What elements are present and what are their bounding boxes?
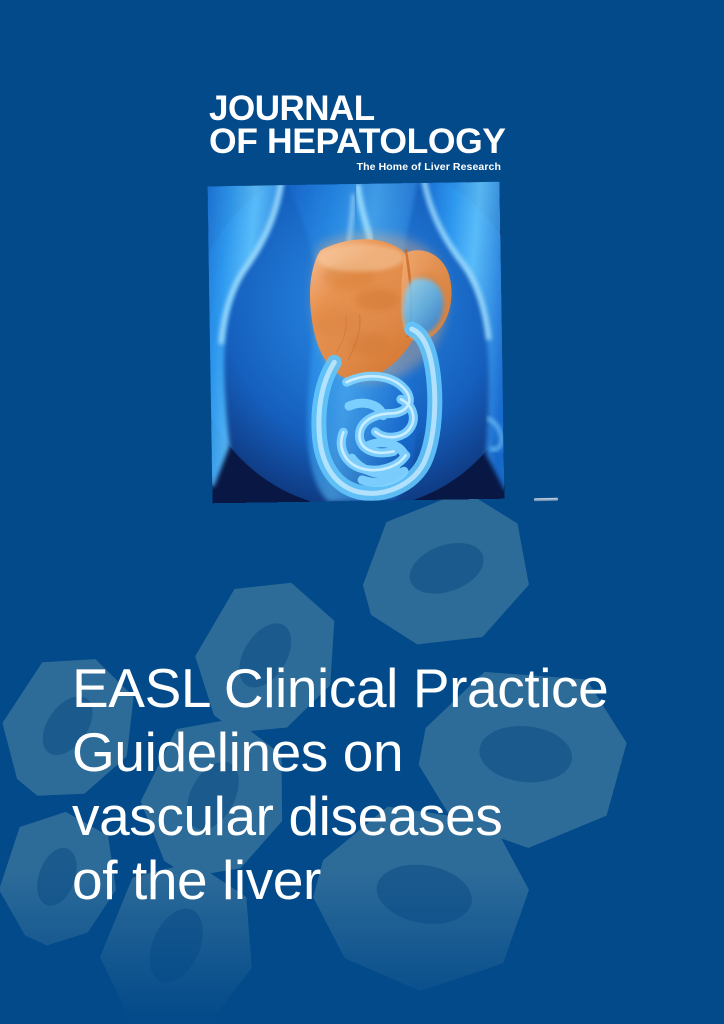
journal-logo-line-2: OF HEPATOLOGY bbox=[209, 125, 501, 158]
page-title-line-1: EASL Clinical Practice bbox=[72, 656, 672, 720]
cover-artwork-image bbox=[208, 182, 505, 504]
journal-logo: JOURNAL OF HEPATOLOGY The Home of Liver … bbox=[209, 92, 501, 173]
page-title-line-4: of the liver bbox=[72, 848, 672, 912]
page-title: EASL Clinical Practice Guidelines on vas… bbox=[72, 656, 672, 912]
page-title-line-2: Guidelines on bbox=[72, 720, 672, 784]
cover-artwork-dash-artifact bbox=[534, 498, 558, 501]
journal-logo-tagline: The Home of Liver Research bbox=[209, 161, 501, 173]
page-title-line-3: vascular diseases bbox=[72, 784, 672, 848]
cover-page: JOURNAL OF HEPATOLOGY The Home of Liver … bbox=[0, 0, 724, 1024]
